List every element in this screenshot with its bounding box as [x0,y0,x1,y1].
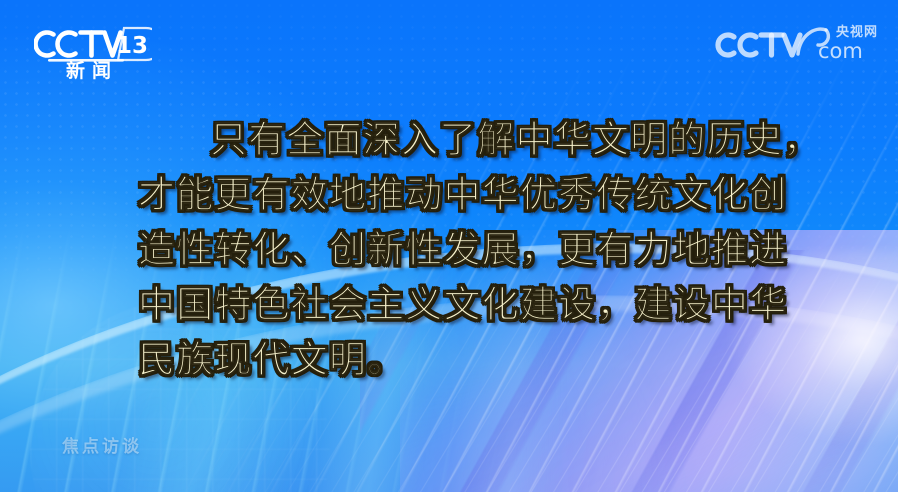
quote-block: 只有全面深入了解中华文明的历史， 才能更有效地推动中华优秀传统文化创 造性转化、… [138,112,770,387]
program-watermark: 焦点访谈 [62,432,142,457]
cctv-com-watermark: com 央视网 [714,18,882,64]
quote-line-1: 只有全面深入了解中华文明的历史， [138,112,770,167]
quote-line-5: 民族现代文明。 [138,332,770,387]
quote-line-4: 中国特色社会主义文化建设，建设中华 [138,277,770,332]
cctv-com-chinese: 央视网 [836,24,878,40]
cctv-13-logo: 13 新闻 [34,22,152,80]
cctv-13-channel-name: 新闻 [66,59,118,80]
quote-line-3: 造性转化、创新性发展，更有力地推进 [138,222,770,277]
broadcast-frame: 13 新闻 com 央视网 焦点访谈 只有全面深入了解中华文明的历史， [0,0,898,492]
cctv-com-domain: com [818,39,863,63]
svg-text:13: 13 [116,33,148,59]
quote-line-2: 才能更有效地推动中华优秀传统文化创 [138,167,770,222]
